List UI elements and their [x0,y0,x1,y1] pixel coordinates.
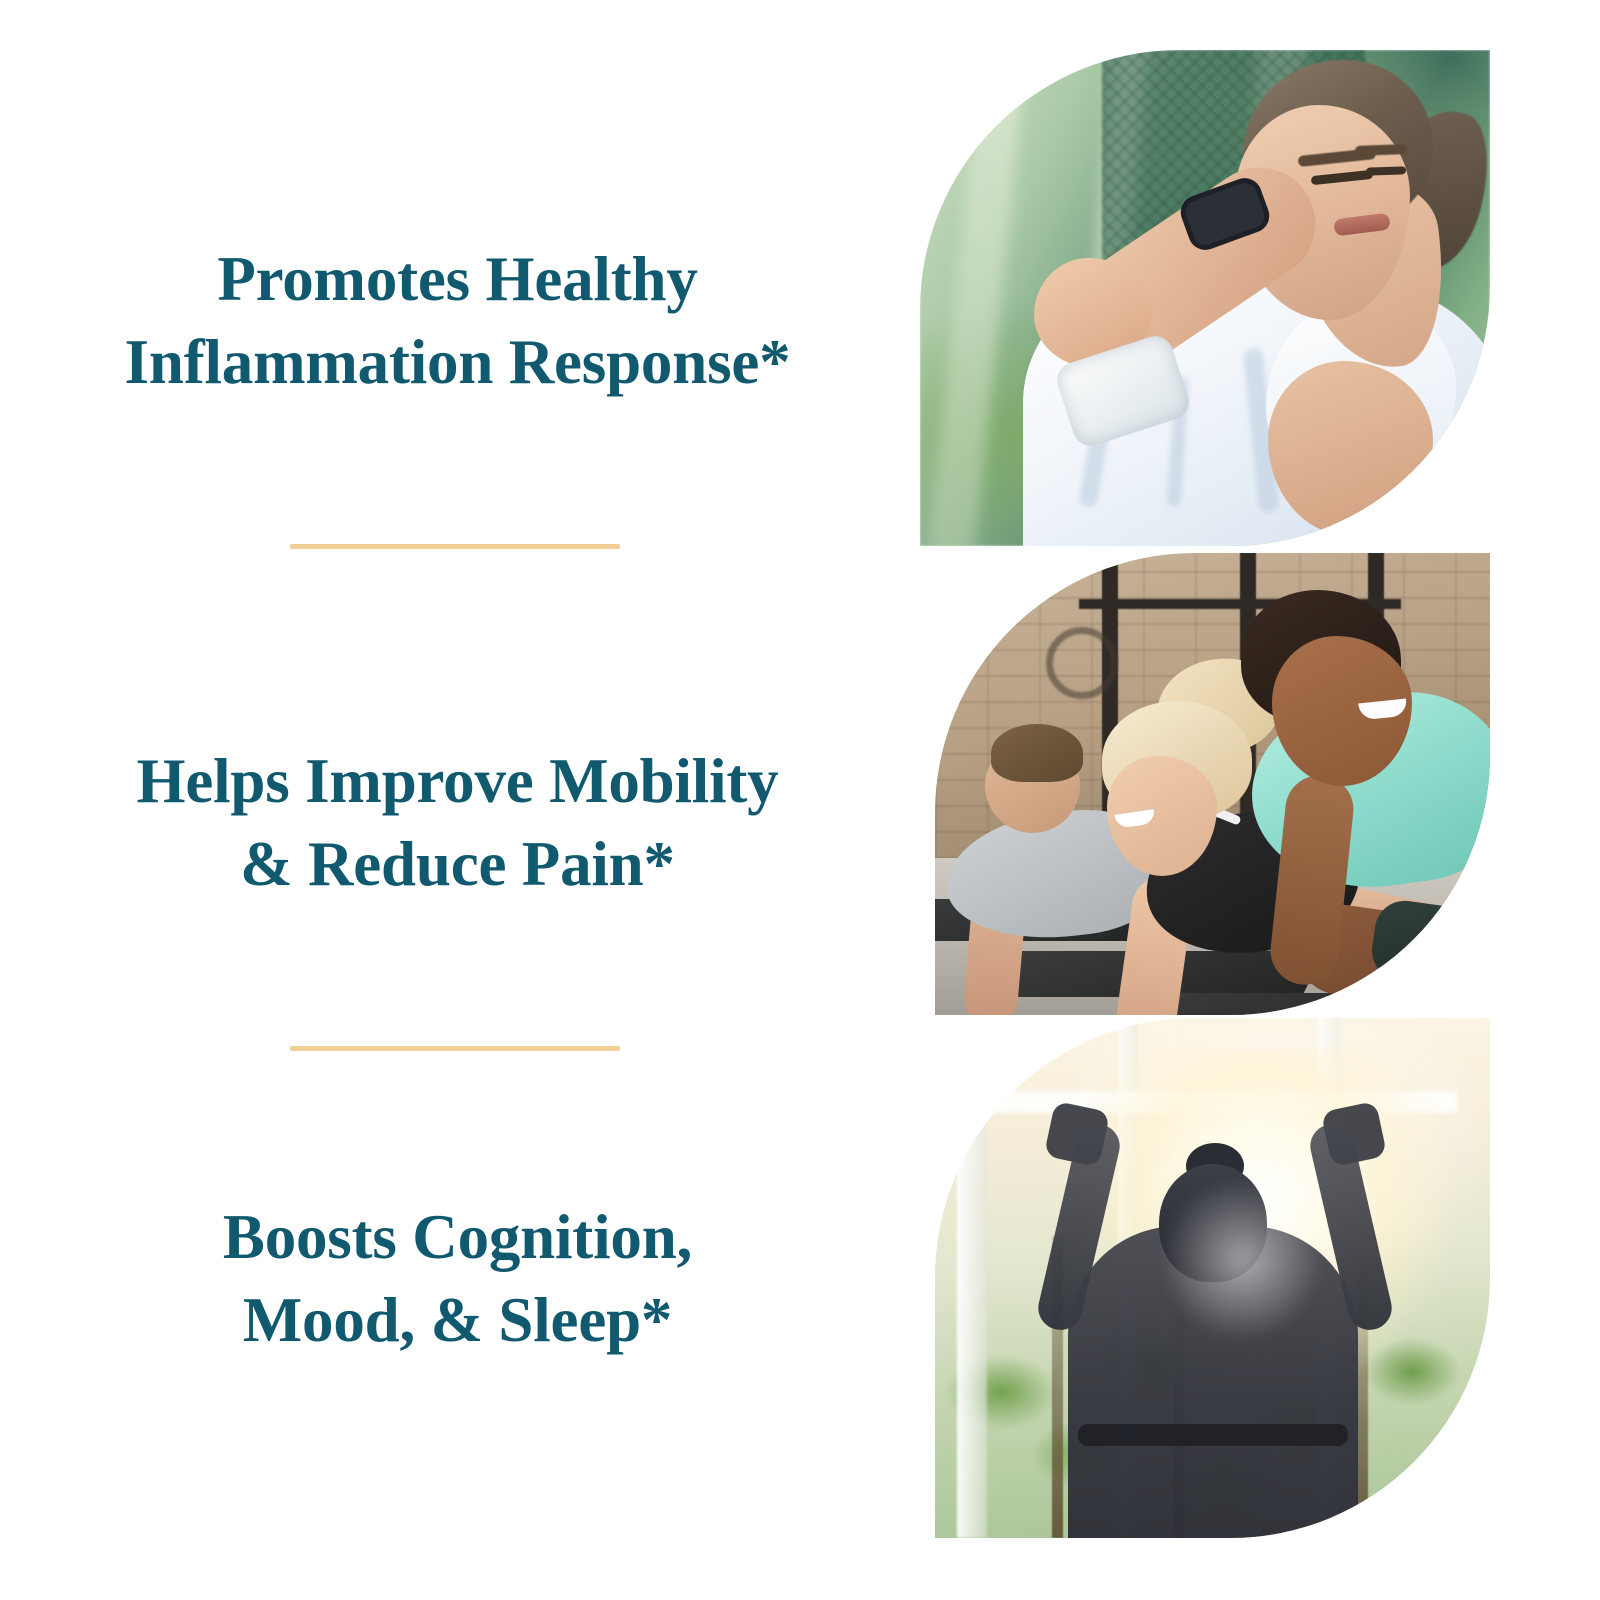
closed-eye-shape [1366,166,1406,175]
gym-ring-icon [1046,627,1118,699]
benefit-heading-1-line-2: Inflammation Response* [0,321,915,404]
benefit-heading-2-line-1: Helps Improve Mobility [0,740,915,823]
benefits-text-column: Promotes Healthy Inflammation Response* … [0,0,915,1600]
section-divider-2 [290,1046,620,1051]
benefits-infographic: Promotes Healthy Inflammation Response* … [0,0,1600,1600]
photo-2-scene [935,553,1490,1015]
photo-3-scene [935,1018,1490,1538]
benefit-heading-2-line-2: & Reduce Pain* [0,823,915,906]
eyebrow-shape [1355,144,1407,156]
benefit-heading-3: Boosts Cognition, Mood, & Sleep* [0,1196,915,1362]
waistband-shape [1078,1424,1348,1446]
lens-flare-icon [1157,1174,1327,1344]
photo-1-scene [920,50,1490,546]
group-plank-exercise-photo [935,553,1490,1015]
benefit-heading-1-line-1: Promotes Healthy [0,238,915,321]
man-hair-shape [991,724,1083,782]
photo-stack [900,0,1600,1600]
benefit-heading-3-line-2: Mood, & Sleep* [0,1279,915,1362]
benefit-heading-3-line-1: Boosts Cognition, [0,1196,915,1279]
benefit-heading-2: Helps Improve Mobility & Reduce Pain* [0,740,915,906]
section-divider-1 [290,544,620,549]
woman-arms-raised-sunlight-photo [935,1018,1490,1538]
benefit-heading-1: Promotes Healthy Inflammation Response* [0,238,915,404]
woman-holding-neck-photo [920,50,1490,546]
